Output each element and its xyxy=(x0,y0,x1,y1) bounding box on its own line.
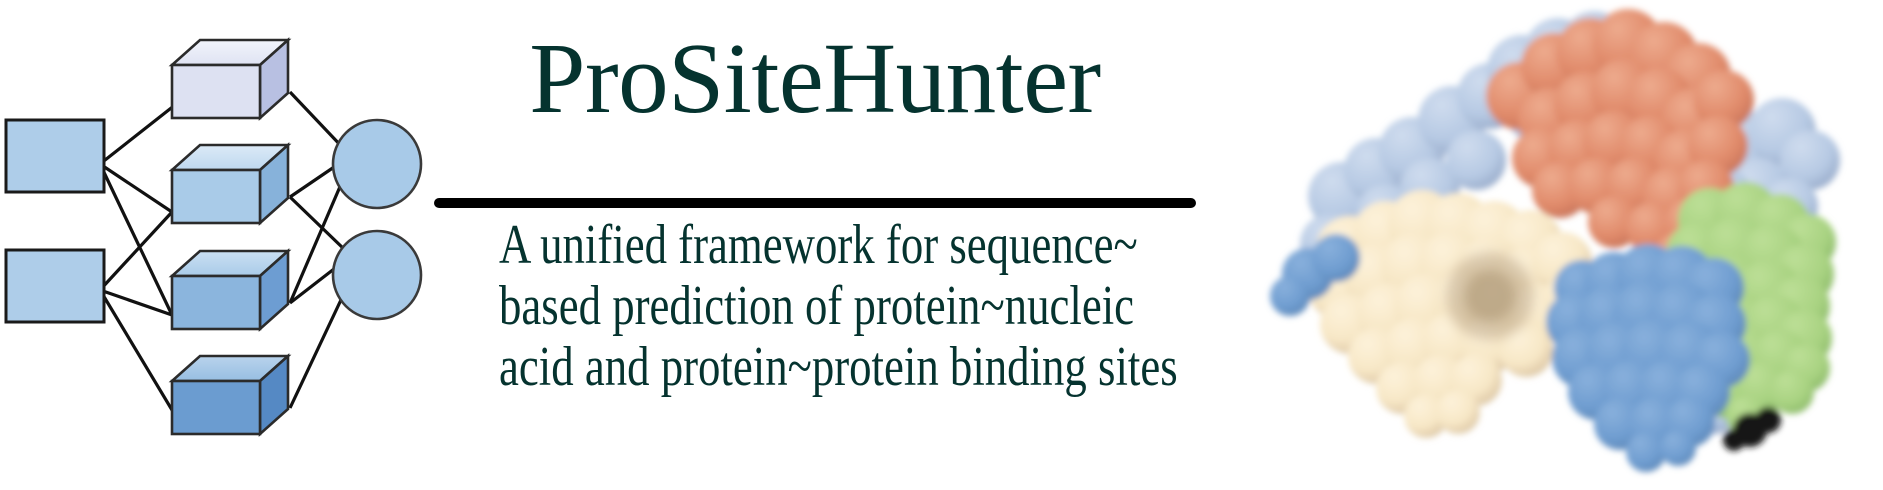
page-title: ProSiteHunter xyxy=(420,28,1210,129)
nn-cube-1 xyxy=(172,40,288,118)
subtitle-line-3: acid and protein~protein binding sites xyxy=(499,337,1131,398)
title-divider xyxy=(434,198,1196,208)
nn-output-circle-2 xyxy=(333,231,421,319)
subtitle-line-2: based prediction of protein~nucleic xyxy=(499,276,1131,337)
nn-input-rect-1 xyxy=(6,120,104,192)
nn-output-circle-1 xyxy=(333,120,421,208)
nn-input-rect-2 xyxy=(6,250,104,322)
cream-pocket-shadow xyxy=(1446,252,1534,340)
nn-cube-2 xyxy=(172,145,288,223)
prositehunter-banner: ProSiteHunter A unified framework for se… xyxy=(0,0,1883,485)
neural-network-diagram xyxy=(0,0,430,485)
nn-cube-4 xyxy=(172,356,288,434)
subtitle-block: A unified framework for sequence~ based … xyxy=(420,215,1210,398)
protein-surface-svg xyxy=(1190,0,1883,485)
banner-text-block: ProSiteHunter A unified framework for se… xyxy=(420,0,1210,485)
protein-surface-structure xyxy=(1190,0,1883,485)
neural-network-svg xyxy=(0,0,430,485)
nn-cube-3 xyxy=(172,251,288,329)
subtitle-line-1: A unified framework for sequence~ xyxy=(499,215,1131,276)
